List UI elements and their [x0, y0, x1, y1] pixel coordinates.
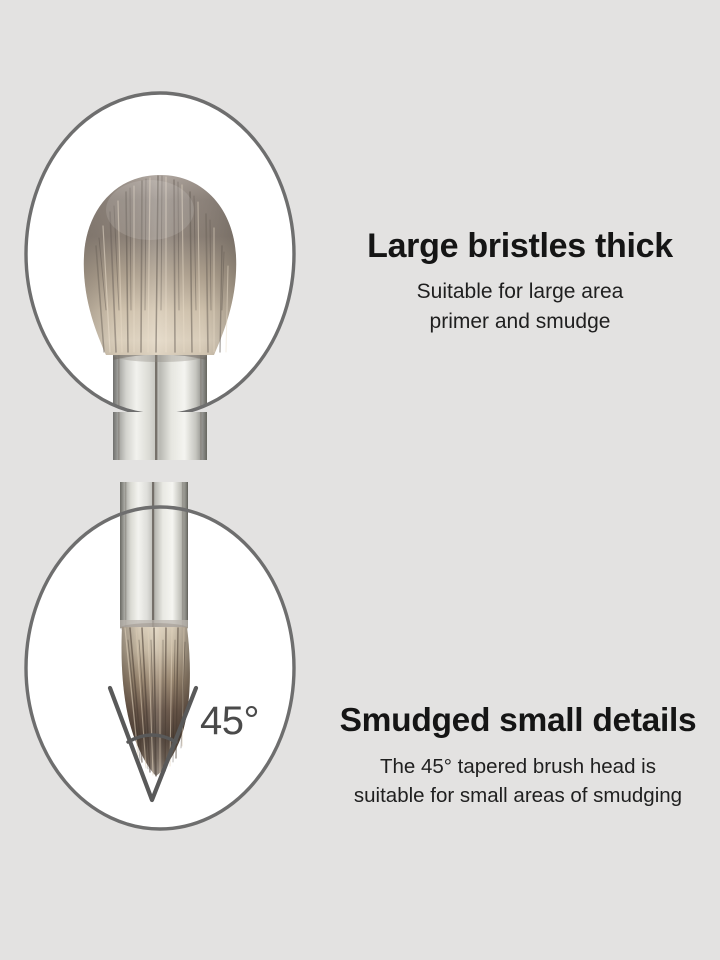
feature-subtitle-line2: primer and smudge — [417, 307, 624, 337]
feature-block-large-bristles: Large bristles thick Suitable for large … — [0, 60, 720, 460]
feature-subtitle: The 45° tapered brush head is suitable f… — [354, 752, 682, 810]
product-feature-page: Large bristles thick Suitable for large … — [0, 0, 720, 960]
feature-subtitle-line1: Suitable for large area — [417, 280, 624, 303]
brush-handle-overflow — [113, 412, 207, 460]
feature-block-smudged-details: 45° Smudged small details The 45° tapere… — [0, 470, 720, 870]
feature-subtitle: Suitable for large area primer and smudg… — [417, 277, 624, 337]
brush-photo-large-bristles — [0, 60, 330, 460]
feature-subtitle-line1: The 45° tapered brush head is — [380, 755, 656, 778]
feature-copy-smudged-details: Smudged small details The 45° tapered br… — [322, 470, 714, 956]
feature-headline: Smudged small details — [340, 702, 697, 740]
brush-handle-overflow — [120, 482, 188, 522]
large-brush-illustration — [0, 60, 330, 460]
angle-label: 45° — [200, 699, 259, 743]
feature-headline: Large bristles thick — [367, 227, 673, 265]
brush-photo-smudged-details: 45° — [0, 470, 330, 870]
feature-subtitle-line2: suitable for small areas of smudging — [354, 781, 682, 810]
tapered-brush-illustration: 45° — [0, 470, 330, 870]
feature-copy-large-bristles: Large bristles thick Suitable for large … — [330, 60, 710, 482]
